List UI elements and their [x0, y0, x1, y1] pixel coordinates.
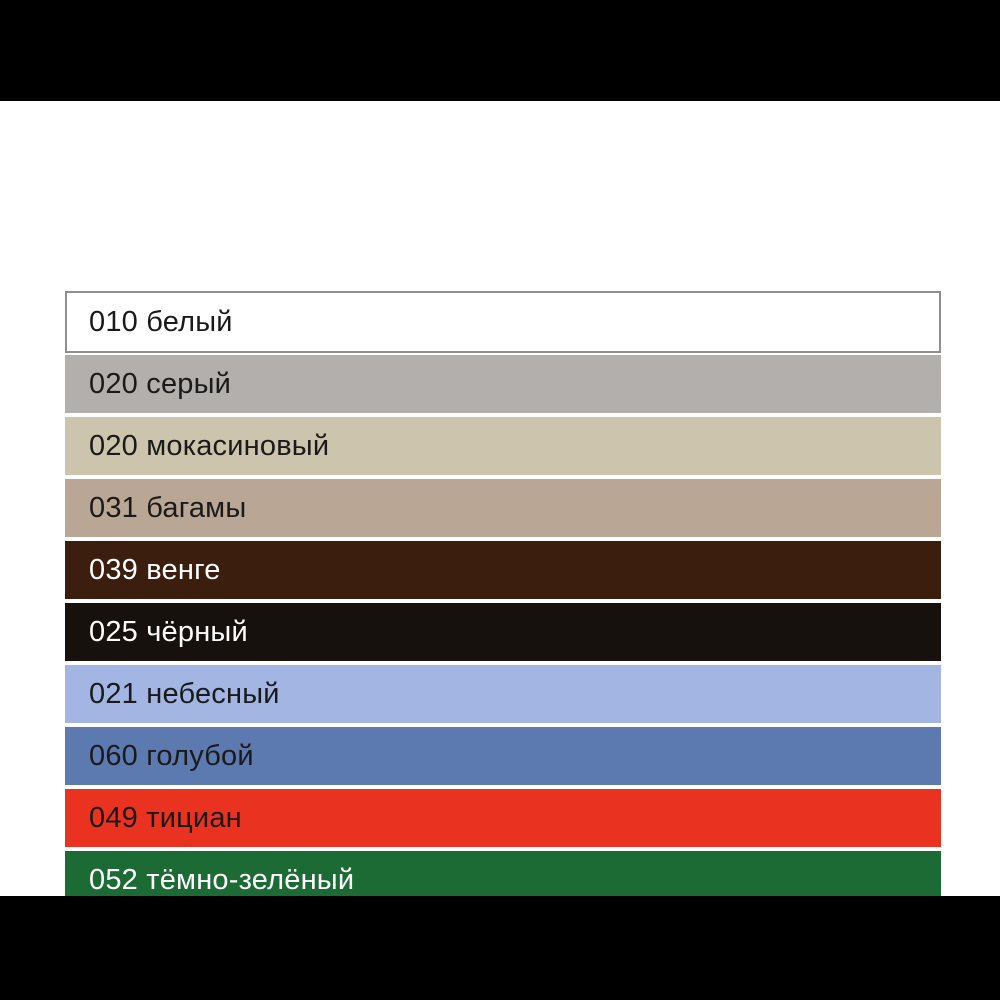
color-swatch-label: 031 багамы	[65, 494, 246, 523]
color-swatch-label: 039 венге	[65, 556, 221, 585]
color-swatch-list: 010 белый020 серый020 мокасиновый031 баг…	[65, 291, 941, 913]
color-swatch-label: 010 белый	[67, 308, 233, 337]
color-swatch-label: 020 серый	[65, 370, 231, 399]
color-swatch-label: 060 голубой	[65, 742, 254, 771]
color-swatch-label: 052 тёмно-зелёный	[65, 866, 354, 895]
letterbox-top	[0, 0, 1000, 101]
color-swatch-label: 020 мокасиновый	[65, 432, 329, 461]
color-swatch-row[interactable]: 025 чёрный	[65, 603, 941, 661]
color-swatch-row[interactable]: 020 мокасиновый	[65, 417, 941, 475]
color-swatch-row[interactable]: 039 венге	[65, 541, 941, 599]
color-palette-screen: 010 белый020 серый020 мокасиновый031 баг…	[0, 0, 1000, 1000]
letterbox-bottom	[0, 896, 1000, 1000]
color-swatch-row[interactable]: 021 небесный	[65, 665, 941, 723]
color-swatch-row[interactable]: 020 серый	[65, 355, 941, 413]
color-swatch-label: 025 чёрный	[65, 618, 248, 647]
color-swatch-label: 021 небесный	[65, 680, 280, 709]
color-swatch-label: 049 тициан	[65, 804, 242, 833]
color-swatch-row[interactable]: 031 багамы	[65, 479, 941, 537]
color-swatch-row[interactable]: 060 голубой	[65, 727, 941, 785]
color-swatch-row[interactable]: 049 тициан	[65, 789, 941, 847]
palette-canvas: 010 белый020 серый020 мокасиновый031 баг…	[0, 101, 1000, 896]
color-swatch-row[interactable]: 010 белый	[65, 291, 941, 353]
